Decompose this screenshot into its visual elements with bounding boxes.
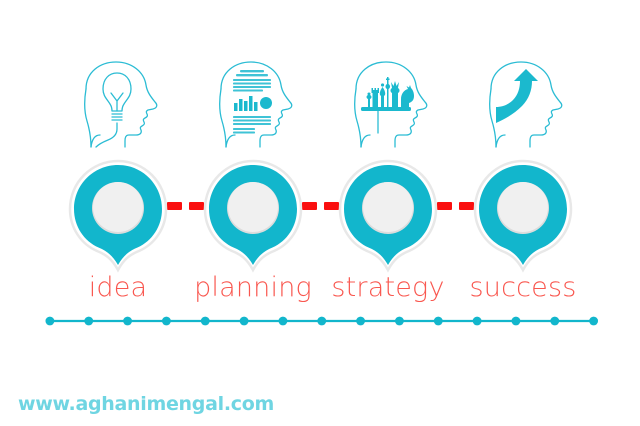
lightbulb-head-icon	[51, 55, 186, 150]
step-label-success: success	[438, 272, 608, 304]
site-watermark: www.aghanimengal.com	[18, 393, 274, 415]
head-icon-row	[0, 55, 640, 150]
map-pin-marker-success[interactable]	[469, 158, 577, 273]
rail-dot	[550, 317, 559, 326]
dotted-progress-rail	[44, 313, 600, 329]
document-chart-head-icon	[186, 55, 321, 150]
rail-dot	[356, 317, 365, 326]
chess-head-icon	[321, 55, 456, 150]
rail-dot	[278, 317, 287, 326]
step-label-row: idea planning strategy success	[0, 272, 640, 306]
rail-dot	[84, 317, 93, 326]
rail-dot	[162, 317, 171, 326]
rail-dot	[45, 317, 54, 326]
rail-dot	[395, 317, 404, 326]
rail-dot	[434, 317, 443, 326]
pin-marker-row	[0, 158, 640, 273]
map-pin-marker-strategy[interactable]	[334, 158, 442, 273]
map-pin-marker-planning[interactable]	[199, 158, 307, 273]
map-pin-marker-idea[interactable]	[64, 158, 172, 273]
rail-dot	[512, 317, 521, 326]
rail-dot	[123, 317, 132, 326]
rail-dot	[201, 317, 210, 326]
infographic-canvas: idea planning strategy success www.aghan…	[0, 0, 640, 426]
growth-arrow-head-icon	[456, 55, 591, 150]
rail-dot	[473, 317, 482, 326]
rail-dot	[240, 317, 249, 326]
rail-dot	[317, 317, 326, 326]
rail-dot	[589, 317, 598, 326]
